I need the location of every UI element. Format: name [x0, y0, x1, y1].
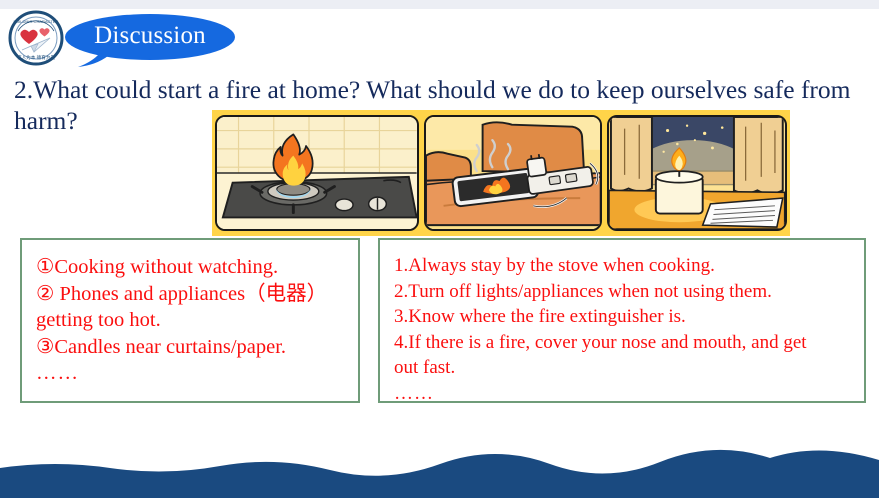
safety-line: 1.Always stay by the stove when cooking. — [394, 253, 856, 279]
slide-canvas: BUILDING CHARACTER 育人为本 德育为先 Discussion … — [0, 0, 879, 498]
safety-line: out fast. — [394, 355, 856, 381]
safety-ellipsis: …… — [394, 381, 856, 407]
safety-line: 3.Know where the fire extinguisher is. — [394, 304, 856, 330]
cause-line: getting too hot. — [36, 307, 348, 334]
svg-text:BUILDING CHARACTER: BUILDING CHARACTER — [14, 19, 59, 24]
cause-ellipsis: …… — [36, 360, 348, 387]
fire-safety-answer-box: 1.Always stay by the stove when cooking.… — [378, 238, 866, 403]
cause-line: ② Phones and appliances（电器） — [36, 281, 348, 308]
discussion-speech-bubble — [64, 13, 236, 67]
illustration-strip — [212, 110, 790, 236]
cause-line: ③Candles near curtains/paper. — [36, 334, 348, 361]
gas-stove-flame-illustration — [215, 115, 419, 231]
cause-line: ①Cooking without watching. — [36, 254, 348, 281]
overheating-phone-on-sofa-illustration — [424, 115, 603, 231]
top-accent-strip — [0, 0, 879, 9]
fire-causes-answer-box: ①Cooking without watching. ② Phones and … — [20, 238, 360, 403]
safety-line: 4.If there is a fire, cover your nose an… — [394, 330, 856, 356]
school-badge-logo: BUILDING CHARACTER 育人为本 德育为先 — [8, 10, 64, 66]
bottom-wave-decoration — [0, 446, 879, 498]
safety-line: 2.Turn off lights/appliances when not us… — [394, 279, 856, 305]
svg-text:育人为本 德育为先: 育人为本 德育为先 — [17, 54, 55, 61]
candle-near-curtains-illustration — [607, 115, 787, 231]
